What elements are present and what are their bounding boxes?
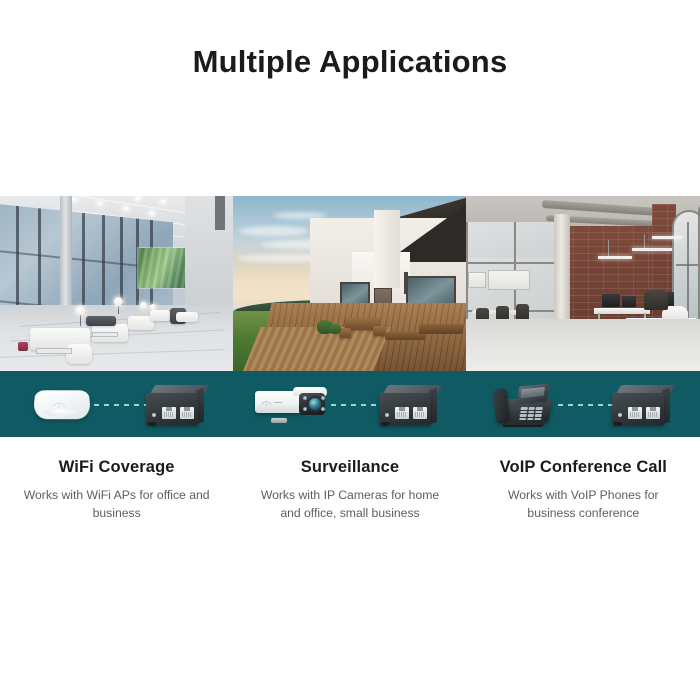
lobby-lamp — [150, 304, 156, 310]
poe-connection-line — [558, 404, 614, 406]
lobby-coffee-table — [92, 332, 118, 337]
application-photo-strip — [0, 196, 700, 371]
status-led — [385, 413, 389, 417]
pendant-light — [652, 236, 682, 239]
office-chair — [644, 290, 668, 310]
lobby-sofa — [150, 310, 170, 321]
diagram-voip-conference-call — [466, 371, 700, 437]
monitor — [622, 296, 636, 307]
photo-wifi-coverage — [0, 196, 233, 371]
lobby-planter — [18, 342, 28, 351]
photo-surveillance — [233, 196, 466, 371]
lobby-lamp — [140, 302, 147, 309]
caption-surveillance: Surveillance Works with IP Cameras for h… — [233, 458, 466, 522]
ip-camera-icon — [255, 385, 329, 421]
lobby-coffee-table — [36, 348, 72, 354]
lobby-scene — [0, 196, 233, 371]
caption-description: Works with IP Cameras for home and offic… — [251, 487, 448, 522]
pendant-light — [598, 256, 632, 259]
pendant-light — [632, 248, 672, 251]
diagram-surveillance — [233, 371, 466, 437]
caption-description: Works with WiFi APs for office and busin… — [18, 487, 215, 522]
application-captions: WiFi Coverage Works with WiFi APs for of… — [0, 458, 700, 522]
monitor — [602, 294, 620, 307]
status-led — [152, 413, 156, 417]
office-scene — [466, 196, 700, 371]
lobby-lamp — [76, 306, 85, 315]
photo-voip-conference-call — [466, 196, 700, 371]
office-desk — [594, 308, 650, 314]
lobby-reception-desk — [176, 312, 198, 322]
lobby-lamp — [114, 297, 123, 306]
status-led — [618, 413, 622, 417]
rj45-port — [628, 407, 642, 419]
phone-handset — [492, 388, 510, 421]
lobby-dark-seat — [86, 316, 116, 326]
tp-link-logo-icon — [261, 400, 283, 406]
shrub — [329, 324, 341, 334]
chimney — [374, 210, 400, 288]
rj45-port — [395, 407, 409, 419]
page-title: Multiple Applications — [0, 44, 700, 80]
rj45-port — [413, 407, 427, 419]
caption-description: Works with VoIP Phones for business conf… — [485, 487, 682, 522]
device-diagram-band — [0, 371, 700, 437]
diagram-wifi-coverage — [0, 371, 233, 437]
deck-step — [243, 327, 391, 371]
house-exterior-scene — [233, 196, 466, 371]
lobby-armchair — [66, 344, 92, 364]
wifi-access-point-icon — [34, 389, 90, 419]
poe-injector-icon — [612, 385, 670, 423]
caption-voip-conference-call: VoIP Conference Call Works with VoIP Pho… — [467, 458, 700, 522]
tp-link-logo-icon — [52, 401, 72, 409]
poe-injector-icon — [146, 385, 204, 423]
deck-lounger — [419, 324, 463, 334]
camera-lens-icon — [309, 398, 321, 410]
poe-connection-line — [94, 404, 148, 406]
phone-display — [517, 383, 550, 404]
rj45-port — [646, 407, 660, 419]
voip-phone-icon — [492, 381, 554, 427]
multiple-applications-page: Multiple Applications — [0, 0, 700, 700]
caption-title: Surveillance — [251, 458, 448, 477]
outdoor-chair — [373, 326, 385, 336]
office-floor — [466, 319, 700, 371]
caption-title: VoIP Conference Call — [485, 458, 682, 477]
caption-title: WiFi Coverage — [18, 458, 215, 477]
rj45-port — [162, 407, 176, 419]
whiteboard — [488, 270, 530, 290]
caption-wifi-coverage: WiFi Coverage Works with WiFi APs for of… — [0, 458, 233, 522]
rj45-port — [180, 407, 194, 419]
meeting-chair — [516, 304, 529, 320]
poe-connection-line — [331, 404, 381, 406]
phone-keypad — [519, 407, 543, 420]
poe-injector-icon — [379, 385, 437, 423]
